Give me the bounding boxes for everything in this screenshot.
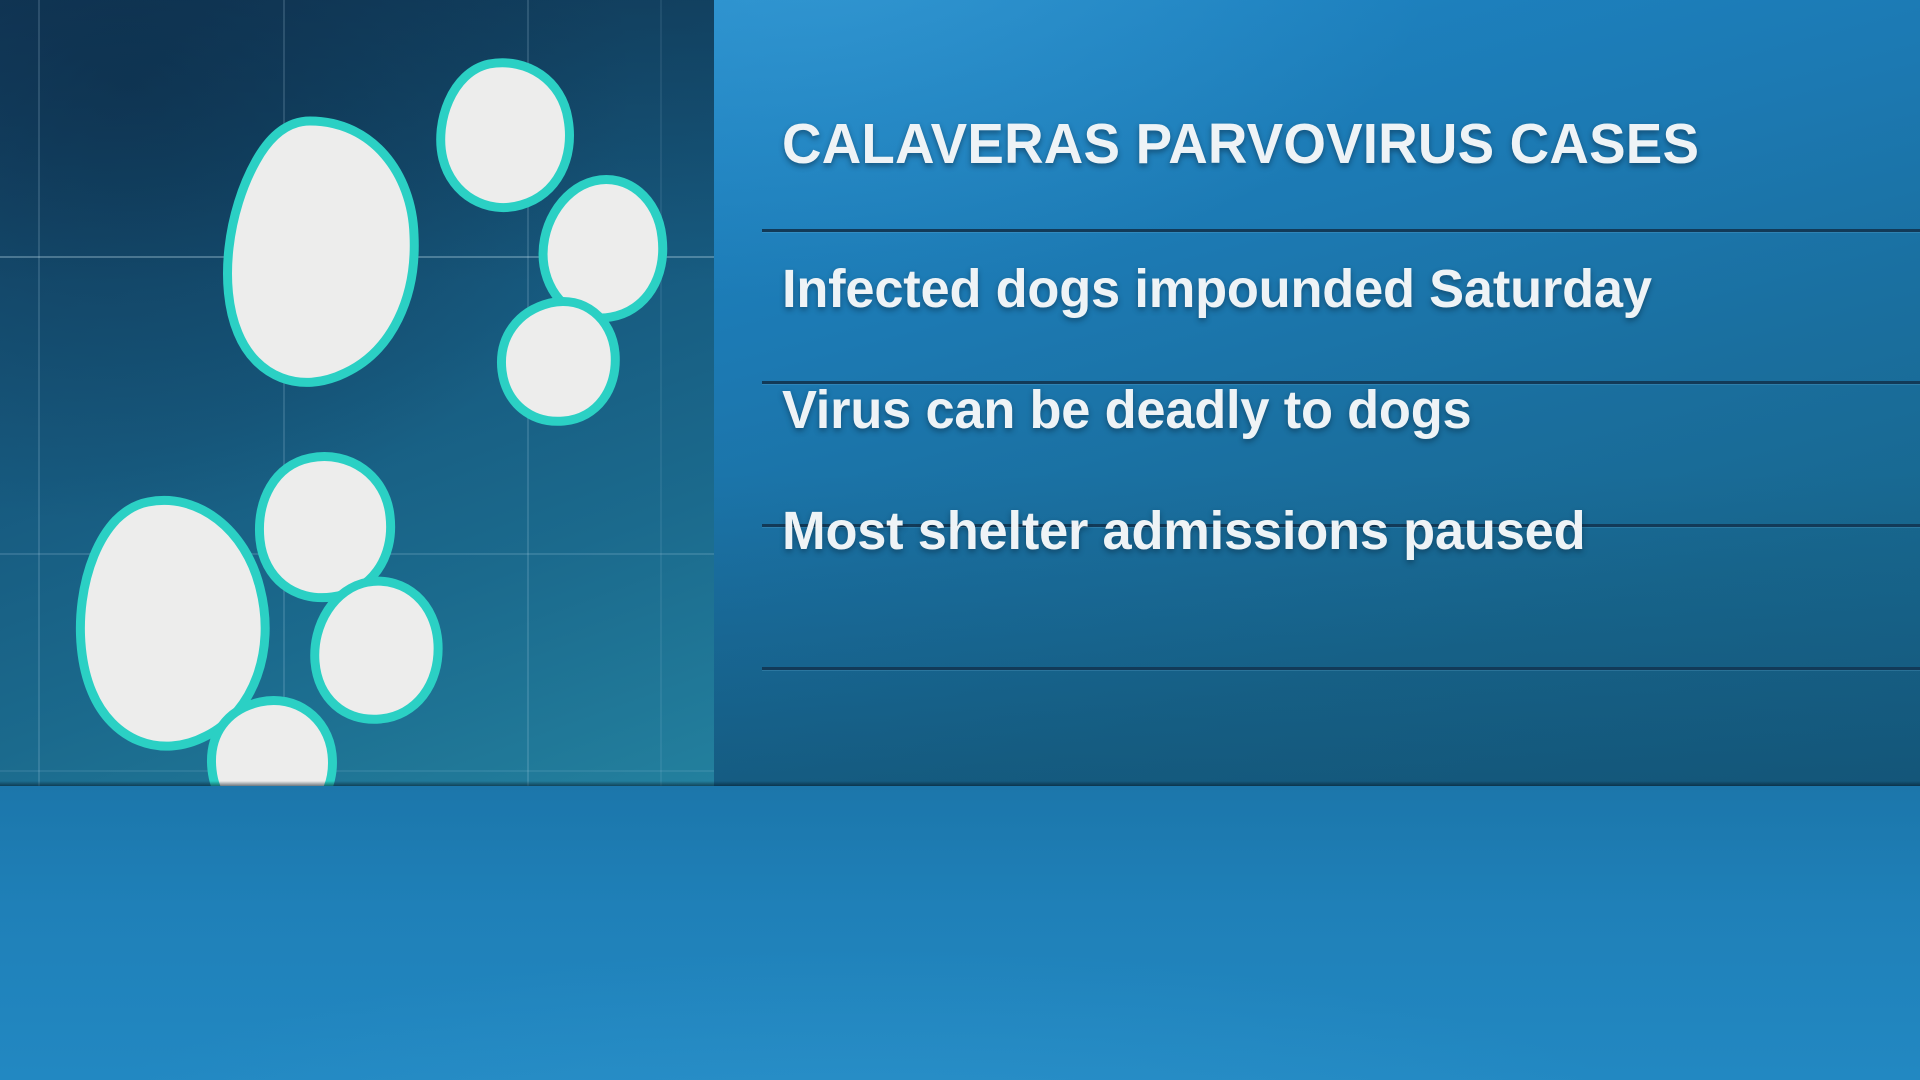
- bullet-item-2: Virus can be deadly to dogs: [782, 383, 1907, 437]
- headline-copy-block: CALAVERAS PARVOVIRUS CASES Infected dogs…: [714, 0, 1920, 786]
- paw-print-icon-lower: [38, 440, 438, 786]
- bullet-item-1: Infected dogs impounded Saturday: [782, 262, 1907, 316]
- paw-print-icon-upper: [62, 45, 682, 385]
- bullet-item-3: Most shelter admissions paused: [782, 504, 1907, 558]
- page-title: CALAVERAS PARVOVIRUS CASES: [782, 116, 1876, 173]
- info-graphic-panel: CALAVERAS PARVOVIRUS CASES Infected dogs…: [0, 0, 1920, 786]
- news-graphic-screen: CALAVERAS PARVOVIRUS CASES Infected dogs…: [0, 0, 1920, 1080]
- paw-art-block: [0, 0, 714, 786]
- divider-rule: [762, 667, 1920, 670]
- divider-rule: [762, 229, 1920, 232]
